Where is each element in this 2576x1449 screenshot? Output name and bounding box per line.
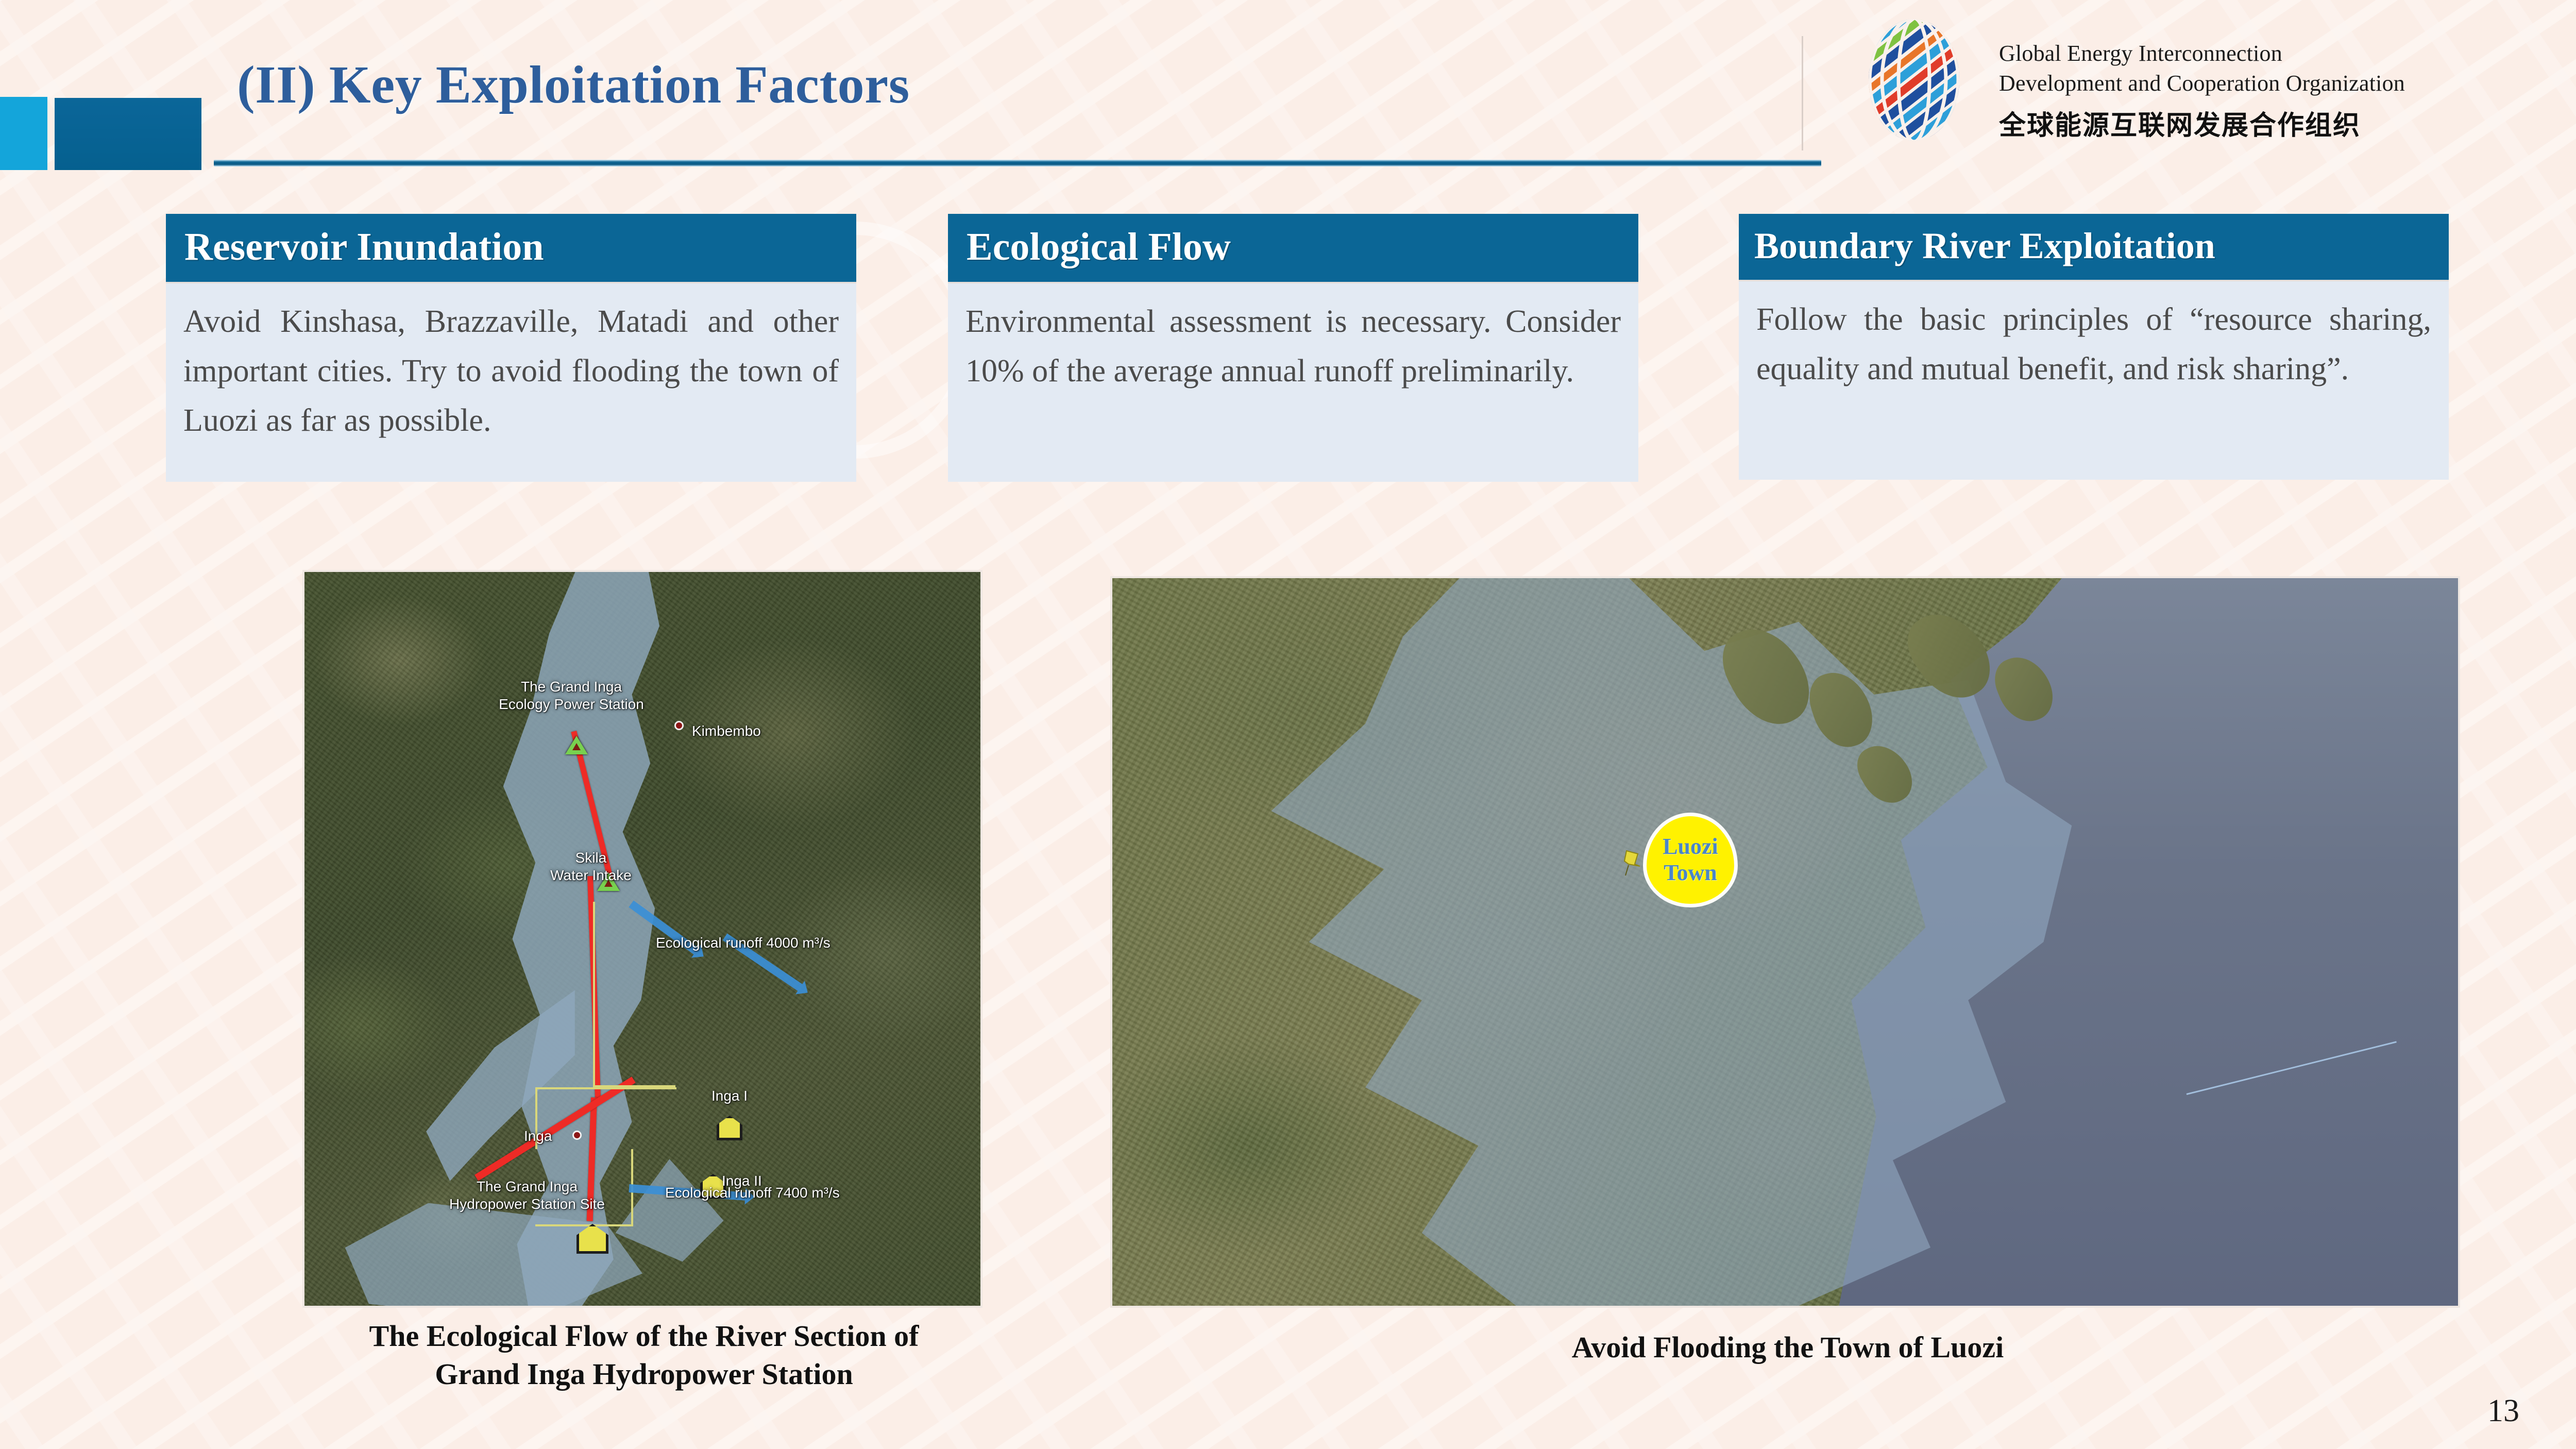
header-accent-block-dark	[55, 98, 201, 170]
thumbtack-icon	[1622, 849, 1644, 878]
page-title: (II) Key Exploitation Factors	[237, 54, 910, 115]
figure-left-caption: The Ecological Flow of the River Section…	[196, 1317, 1092, 1393]
figure-luozi-flooding-map: Luozi Town	[1110, 576, 2460, 1308]
factor-card-reservoir-inundation: Reservoir Inundation Avoid Kinshasa, Bra…	[166, 214, 856, 482]
red-dot-marker-inga	[572, 1131, 582, 1140]
factor-card-boundary-river-exploitation: Boundary River Exploitation Follow the b…	[1739, 214, 2449, 480]
page-number: 13	[2487, 1393, 2519, 1429]
map-yellow-boundary-path-3	[535, 1149, 633, 1226]
factor-card-body: Environmental assessment is necessary. C…	[948, 283, 1638, 482]
factor-card-heading: Ecological Flow	[948, 214, 1638, 283]
factor-card-body: Follow the basic principles of “resource…	[1739, 281, 2449, 480]
org-name-line-cn: 全球能源互联网发展合作组织	[1999, 104, 2561, 142]
factor-card-ecological-flow: Ecological Flow Environmental assessment…	[948, 214, 1638, 482]
org-logo-text: Global Energy Interconnection Developmen…	[1999, 39, 2561, 142]
red-dot-marker-kimbembo	[674, 721, 684, 730]
header-divider-rule	[214, 160, 1821, 166]
map-yellow-boundary-path-2	[535, 1087, 676, 1149]
org-name-line-2: Development and Cooperation Organization	[1999, 69, 2561, 98]
factor-card-heading: Boundary River Exploitation	[1739, 214, 2449, 281]
map-pin-luozi-town[interactable]: Luozi Town	[1643, 813, 1738, 907]
header-accent-block-light	[0, 97, 47, 170]
factor-card-heading: Reservoir Inundation	[166, 214, 856, 283]
map-pin-label: Luozi Town	[1643, 833, 1738, 886]
figure-ecological-flow-map: The Grand Inga Ecology Power Station Kim…	[302, 570, 982, 1308]
figure-right-caption: Avoid Flooding the Town of Luozi	[1185, 1328, 2391, 1367]
header-vertical-separator	[1802, 36, 1803, 150]
green-triangle-marker-skila-intake	[597, 872, 620, 891]
factor-card-body: Avoid Kinshasa, Brazzaville, Matadi and …	[166, 283, 856, 482]
globe-stripes-logo-icon	[1855, 15, 1973, 144]
green-triangle-marker-grand-inga-ecology	[565, 736, 588, 754]
org-name-line-1: Global Energy Interconnection	[1999, 39, 2561, 69]
